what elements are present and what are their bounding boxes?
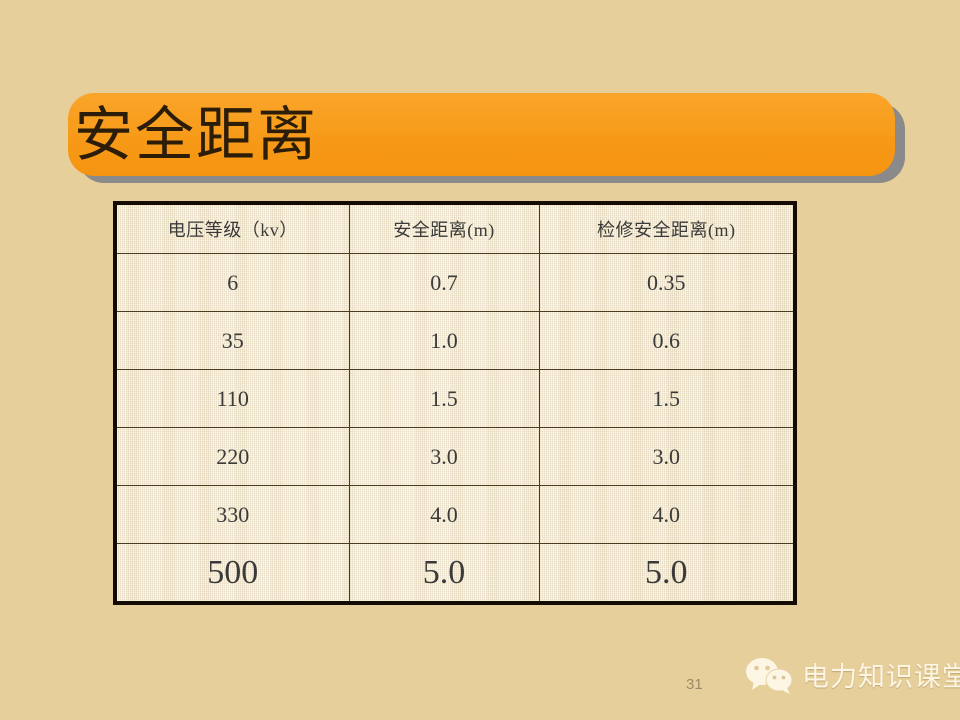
table-row: 60.70.35 xyxy=(117,254,793,312)
voltage-cell: 330 xyxy=(117,486,349,544)
maintenance-distance-cell: 4.0 xyxy=(539,486,793,544)
page-number: 31 xyxy=(686,676,703,693)
table-row: 5005.05.0 xyxy=(117,544,793,602)
safe-distance-cell: 1.5 xyxy=(349,370,539,428)
voltage-cell: 35 xyxy=(117,312,349,370)
maintenance-distance-cell: 0.6 xyxy=(539,312,793,370)
column-header-2: 检修安全距离(m) xyxy=(539,205,793,254)
voltage-cell: 500 xyxy=(117,544,349,602)
voltage-cell: 220 xyxy=(117,428,349,486)
maintenance-distance-cell: 0.35 xyxy=(539,254,793,312)
wechat-icon xyxy=(745,656,793,694)
page-title: 安全距离 xyxy=(74,95,834,175)
table-row: 3304.04.0 xyxy=(117,486,793,544)
safe-distance-cell: 1.0 xyxy=(349,312,539,370)
watermark: 电力知识课堂 xyxy=(745,655,960,694)
slide-canvas: 安全距离 电压等级（kv）安全距离(m)检修安全距离(m)60.70.35351… xyxy=(0,0,960,720)
maintenance-distance-cell: 1.5 xyxy=(539,370,793,428)
safe-distance-cell: 0.7 xyxy=(349,254,539,312)
table-row: 351.00.6 xyxy=(117,312,793,370)
column-header-1: 安全距离(m) xyxy=(349,205,539,254)
safe-distance-cell: 3.0 xyxy=(349,428,539,486)
safe-distance-cell: 4.0 xyxy=(349,486,539,544)
table-header-row: 电压等级（kv）安全距离(m)检修安全距离(m) xyxy=(117,205,793,254)
voltage-cell: 6 xyxy=(117,254,349,312)
safety-distance-table-container: 电压等级（kv）安全距离(m)检修安全距离(m)60.70.35351.00.6… xyxy=(113,201,797,605)
voltage-cell: 110 xyxy=(117,370,349,428)
maintenance-distance-cell: 3.0 xyxy=(539,428,793,486)
maintenance-distance-cell: 5.0 xyxy=(539,544,793,602)
table-row: 2203.03.0 xyxy=(117,428,793,486)
watermark-label: 电力知识课堂 xyxy=(802,655,960,694)
safe-distance-cell: 5.0 xyxy=(349,544,539,602)
safety-distance-table: 电压等级（kv）安全距离(m)检修安全距离(m)60.70.35351.00.6… xyxy=(117,205,793,601)
table-body: 电压等级（kv）安全距离(m)检修安全距离(m)60.70.35351.00.6… xyxy=(117,205,793,601)
column-header-0: 电压等级（kv） xyxy=(117,205,349,254)
table-row: 1101.51.5 xyxy=(117,370,793,428)
